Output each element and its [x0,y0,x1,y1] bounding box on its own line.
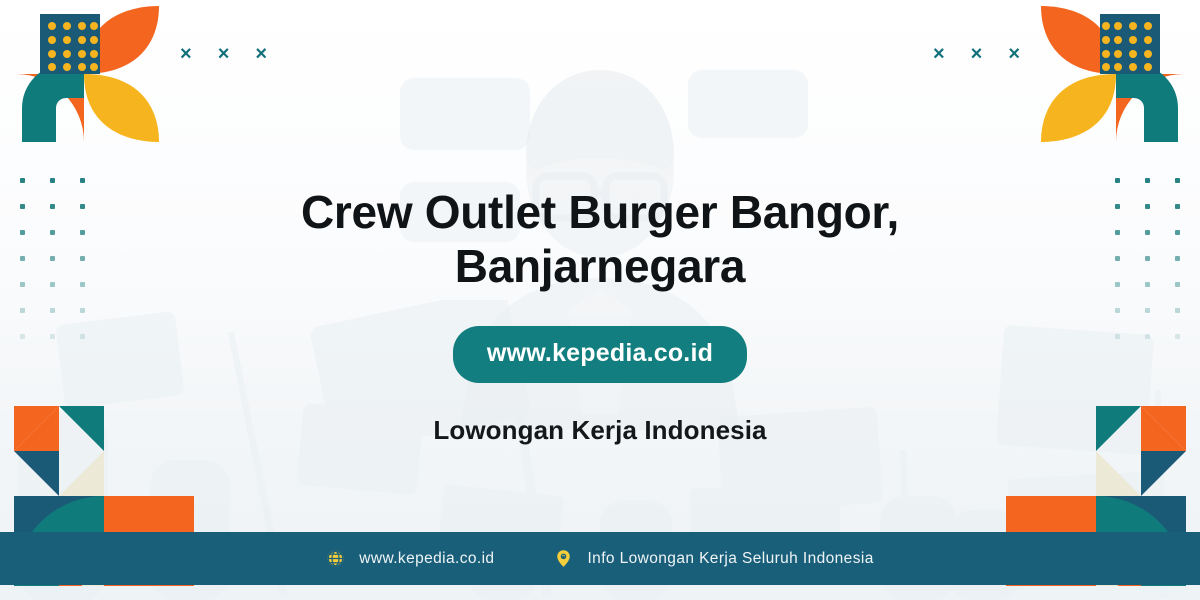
page-title: Crew Outlet Burger Bangor, Banjarnegara [250,186,950,294]
x-mark-icon: × [255,44,267,64]
corner-ornament-top-left [14,4,194,164]
footer-location-text: Info Lowongan Kerja Seluruh Indonesia [587,550,873,568]
x-marks-left: × × × [180,44,267,64]
website-badge[interactable]: www.kepedia.co.id [453,326,747,383]
globe-icon [326,549,345,568]
x-mark-icon: × [1008,44,1020,64]
footer-website-text: www.kepedia.co.id [359,550,494,568]
main-content: Crew Outlet Burger Bangor, Banjarnegara … [0,186,1200,446]
x-mark-icon: × [933,44,945,64]
corner-ornament-top-right [1006,4,1186,164]
footer-location-item[interactable]: Info Lowongan Kerja Seluruh Indonesia [554,549,873,568]
x-mark-icon: × [180,44,192,64]
poster-canvas: × × × × × × Crew Outlet Burger Bangor, B… [0,0,1200,600]
footer-bar: www.kepedia.co.id Info Lowongan Kerja Se… [0,532,1200,585]
x-mark-icon: × [218,44,230,64]
x-mark-icon: × [971,44,983,64]
x-marks-right: × × × [933,44,1020,64]
map-pin-icon [554,549,573,568]
footer-website-item[interactable]: www.kepedia.co.id [326,549,494,568]
page-subtitle: Lowongan Kerja Indonesia [433,415,766,446]
